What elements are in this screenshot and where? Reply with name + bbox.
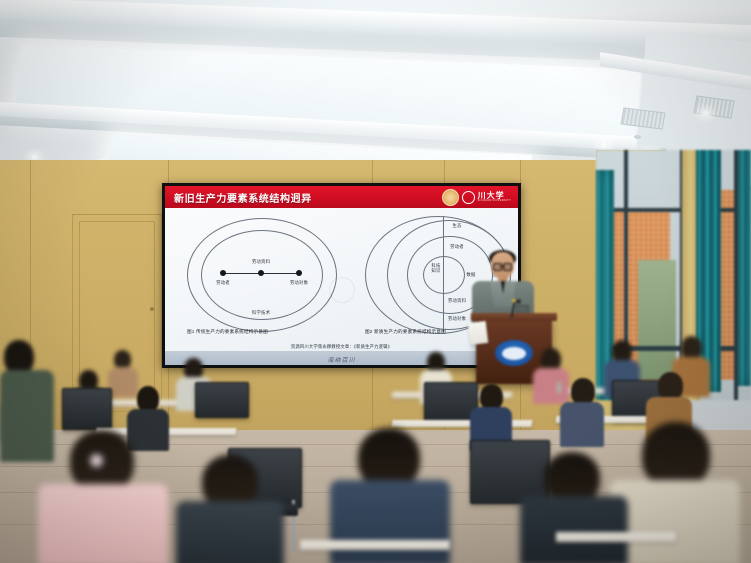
label-labor-means: 劳动资料: [252, 259, 270, 265]
label-sci-tech-knowledge: 科技知识: [430, 264, 442, 273]
exterior-foliage: [638, 260, 676, 380]
logo-mark-icon: [462, 191, 475, 204]
student-head: [358, 428, 420, 488]
slide-title: 新旧生产力要素系统结构迥异: [174, 190, 312, 205]
student-body: [330, 480, 450, 563]
label-labor-target: 劳动对象: [448, 316, 466, 322]
label-ecology: 生态: [452, 223, 461, 229]
node-labor-object: [296, 270, 302, 276]
podium-emblem-icon: [495, 340, 533, 366]
student-front-1: [38, 430, 168, 563]
label-labor-object: 劳动对象: [290, 280, 308, 286]
slide-header-bar: 新旧生产力要素系统结构迥异 川大学 SICHUAN UNIVERSITY: [165, 186, 518, 208]
university-logo: 川大学 SICHUAN UNIVERSITY: [442, 189, 511, 206]
podium-top-surface: [471, 313, 557, 321]
student-body: [176, 501, 284, 563]
emblem-inner-shape: [502, 347, 526, 360]
downlight-4: [599, 142, 609, 147]
diagram-traditional-productivity: 劳动资料 劳动者 劳动对象 科学技术: [179, 214, 345, 334]
chair-mid-1[interactable]: [62, 388, 112, 430]
hair-clip: [90, 454, 103, 467]
presentation-slide: 新旧生产力要素系统结构迥异 川大学 SICHUAN UNIVERSITY: [165, 186, 518, 365]
student-mid-3: [470, 384, 512, 448]
downlight-3: [700, 110, 711, 116]
figure-1-caption: 图1 传统生产力的要素系统结构示意图: [187, 329, 268, 335]
podium-papers: [468, 321, 489, 345]
ghost-seal-watermark: [329, 277, 355, 303]
lecture-hall-photo: 新旧生产力要素系统结构迥异 川大学 SICHUAN UNIVERSITY: [0, 0, 751, 563]
student-head: [642, 422, 710, 488]
curtain-right[interactable]: [738, 150, 751, 386]
student-body: [610, 480, 740, 563]
smoke-detector: [634, 135, 641, 139]
desk-front-1: [300, 540, 450, 550]
student-body: [560, 402, 604, 447]
student-body: [38, 484, 168, 563]
node-labor-means: [258, 270, 264, 276]
lens-right: [503, 263, 512, 271]
slide-footer: 海纳百川: [165, 351, 518, 365]
university-seal-icon: [442, 189, 459, 206]
glasses-bridge: [500, 266, 505, 267]
vertical-divider: [443, 216, 444, 332]
window-transom-1: [596, 208, 751, 212]
microphone-icon: [516, 299, 521, 304]
student-front-3: [176, 455, 284, 563]
desk-front-2: [556, 532, 676, 542]
student-body: [520, 496, 628, 563]
slide-source-note: 资源四川大学蒋永穆教授文章：《新质生产力逻辑》: [165, 344, 518, 350]
student-head: [4, 340, 34, 374]
chair-mid-2[interactable]: [195, 382, 249, 418]
logo-english-name: SICHUAN UNIVERSITY: [478, 200, 511, 203]
label-science-tech: 科学技术: [252, 310, 270, 316]
node-labor-person: [220, 270, 226, 276]
student-front-5: [520, 452, 628, 563]
projection-screen[interactable]: 新旧生产力要素系统结构迥异 川大学 SICHUAN UNIVERSITY: [162, 183, 521, 368]
figure-2-caption: 图2 新质生产力的要素系统结构示意图: [365, 329, 446, 335]
student-side-left: [0, 340, 54, 460]
student-head: [658, 372, 683, 400]
label-laborer: 劳动者: [450, 244, 464, 250]
glasses-icon: [493, 263, 512, 269]
student-head: [571, 378, 595, 405]
label-labor-person: 劳动者: [216, 280, 230, 286]
slide-watermark: 海纳百川: [327, 355, 355, 364]
student-body: [0, 370, 54, 462]
student-mid-4: [560, 378, 604, 444]
logo-text: 川大学 SICHUAN UNIVERSITY: [478, 192, 511, 203]
lens-left: [493, 263, 502, 271]
label-labor-materials: 劳动资料: [448, 298, 466, 304]
core-ring-right: [423, 256, 465, 294]
slide-body: 劳动资料 劳动者 劳动对象 科学技术 生态 劳动者 科技知识 数据 空间: [165, 208, 518, 365]
